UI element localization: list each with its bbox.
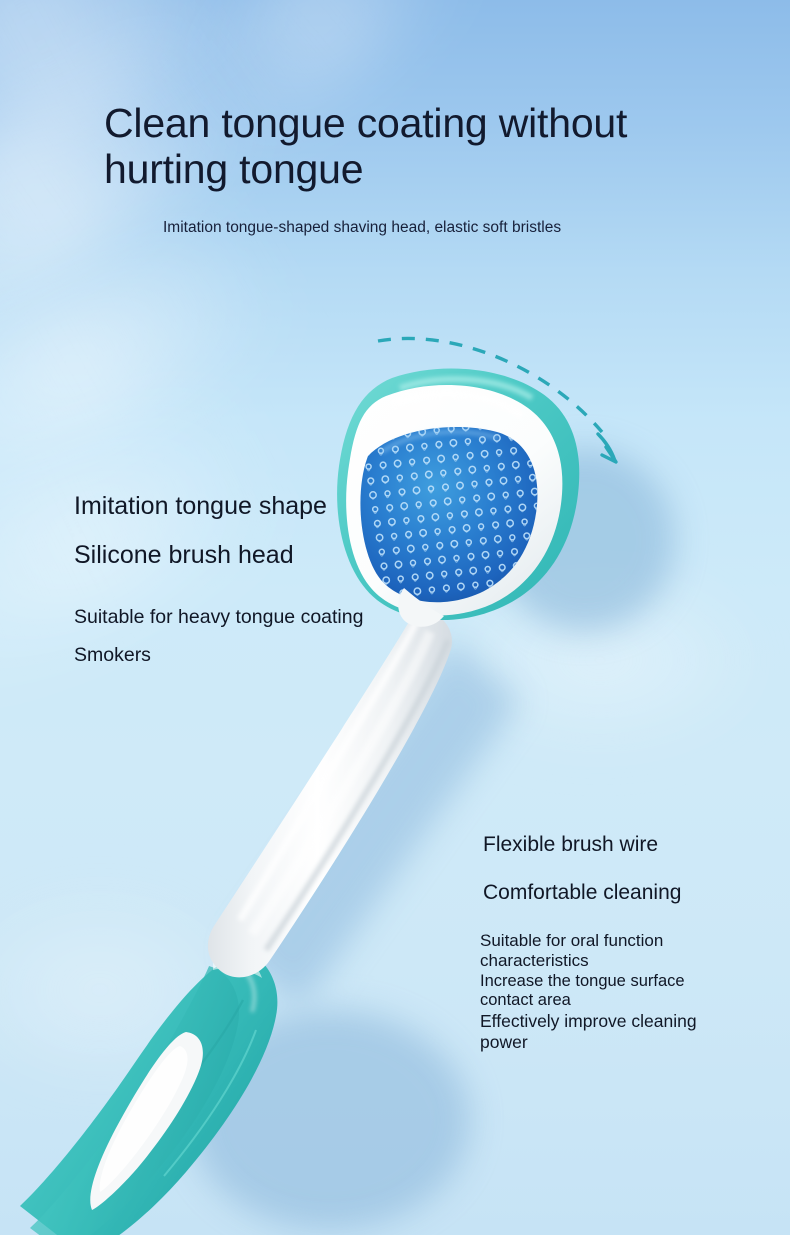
callout-oral-function: Suitable for oral function characteristi… bbox=[480, 931, 715, 971]
callout-smokers: Smokers bbox=[74, 642, 151, 668]
callout-silicone-brush-head: Silicone brush head bbox=[74, 540, 294, 571]
page-subheadline: Imitation tongue-shaped shaving head, el… bbox=[163, 218, 561, 238]
callout-cleaning-power: Effectively improve cleaning power bbox=[480, 1011, 710, 1053]
callout-imitation-tongue-shape: Imitation tongue shape bbox=[74, 491, 327, 522]
callout-contact-area: Increase the tongue surface contact area bbox=[480, 972, 720, 1010]
product-feature-page: Clean tongue coating without hurting ton… bbox=[0, 0, 790, 1235]
page-headline: Clean tongue coating without hurting ton… bbox=[104, 100, 724, 192]
callout-flexible-brush-wire: Flexible brush wire bbox=[483, 831, 658, 858]
callout-heavy-tongue-coating: Suitable for heavy tongue coating bbox=[74, 604, 363, 630]
callout-comfortable-cleaning: Comfortable cleaning bbox=[483, 879, 681, 906]
